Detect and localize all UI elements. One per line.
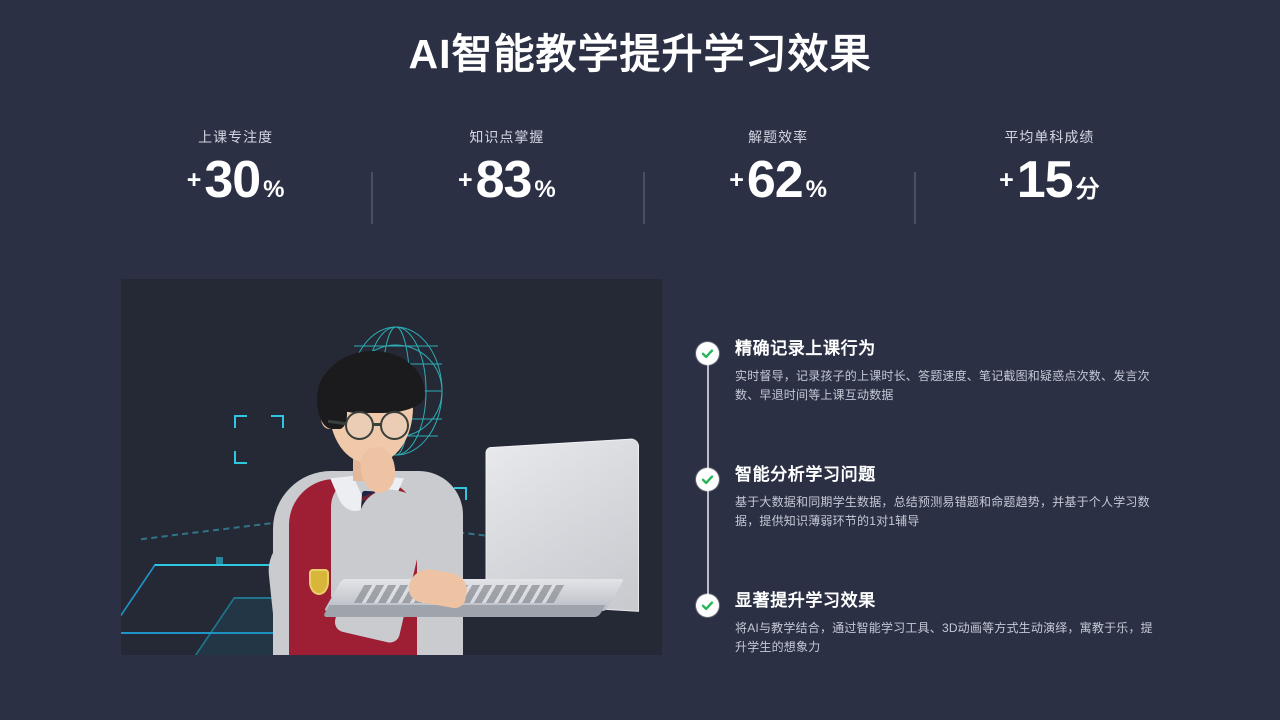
stats-row: 上课专注度 + 30 % 知识点掌握 + 83 % 解题效率 + 62 %	[100, 128, 1185, 206]
student-figure	[121, 279, 662, 655]
school-badge-icon	[309, 569, 329, 595]
feature-description: 基于大数据和同期学生数据，总结预测易错题和命题趋势，并基于个人学习数据，提供知识…	[735, 493, 1163, 531]
stat-number: 15	[1017, 154, 1073, 206]
page-title: AI智能教学提升学习效果	[0, 30, 1280, 79]
stat-number: 62	[747, 154, 803, 206]
glasses-bridge	[373, 423, 382, 426]
stat-value: + 15 分	[914, 154, 1185, 206]
feature-item-1[interactable]: 智能分析学习问题 基于大数据和同期学生数据，总结预测易错题和命题趋势，并基于个人…	[688, 464, 1168, 531]
stat-unit: 分	[1076, 178, 1100, 202]
feature-title: 智能分析学习问题	[735, 464, 1168, 486]
stat-plus-sign: +	[999, 168, 1014, 193]
slide-root: AI智能教学提升学习效果 上课专注度 + 30 % 知识点掌握 + 83 % 解…	[0, 0, 1280, 720]
feature-title: 精确记录上课行为	[735, 338, 1168, 360]
stat-item-2: 解题效率 + 62 %	[643, 128, 914, 206]
stat-unit: %	[806, 178, 827, 202]
stat-item-0: 上课专注度 + 30 %	[100, 128, 371, 206]
stat-value: + 62 %	[643, 154, 914, 206]
stat-label: 上课专注度	[100, 128, 371, 148]
stat-item-3: 平均单科成绩 + 15 分	[914, 128, 1185, 206]
laptop-base-edge	[323, 605, 606, 617]
stat-item-1: 知识点掌握 + 83 %	[371, 128, 642, 206]
stat-unit: %	[263, 178, 284, 202]
check-circle-icon	[696, 342, 719, 365]
stat-plus-sign: +	[729, 168, 744, 193]
stat-label: 解题效率	[643, 128, 914, 148]
feature-item-2[interactable]: 显著提升学习效果 将AI与教学结合，通过智能学习工具、3D动画等方式生动演绎，寓…	[688, 590, 1168, 657]
stat-value: + 30 %	[100, 154, 371, 206]
stat-number: 83	[476, 154, 532, 206]
glasses-right-lens-icon	[380, 411, 409, 440]
stat-plus-sign: +	[187, 168, 202, 193]
media-panel	[121, 279, 662, 655]
stat-number: 30	[204, 154, 260, 206]
stat-unit: %	[534, 178, 555, 202]
stat-label: 知识点掌握	[371, 128, 642, 148]
glasses-left-lens-icon	[345, 411, 374, 440]
feature-description: 将AI与教学结合，通过智能学习工具、3D动画等方式生动演绎，寓教于乐，提升学生的…	[735, 619, 1163, 657]
check-circle-icon	[696, 468, 719, 491]
feature-description: 实时督导，记录孩子的上课时长、答题速度、笔记截图和疑惑点次数、发言次数、早退时间…	[735, 367, 1163, 405]
feature-title: 显著提升学习效果	[735, 590, 1168, 612]
stat-label: 平均单科成绩	[914, 128, 1185, 148]
feature-item-0[interactable]: 精确记录上课行为 实时督导，记录孩子的上课时长、答题速度、笔记截图和疑惑点次数、…	[688, 338, 1168, 405]
stat-value: + 83 %	[371, 154, 642, 206]
feature-timeline: 精确记录上课行为 实时督导，记录孩子的上课时长、答题速度、笔记截图和疑惑点次数、…	[688, 338, 1168, 657]
check-circle-icon	[696, 594, 719, 617]
stat-plus-sign: +	[458, 168, 473, 193]
student-laptop-ai-photo	[121, 279, 662, 655]
